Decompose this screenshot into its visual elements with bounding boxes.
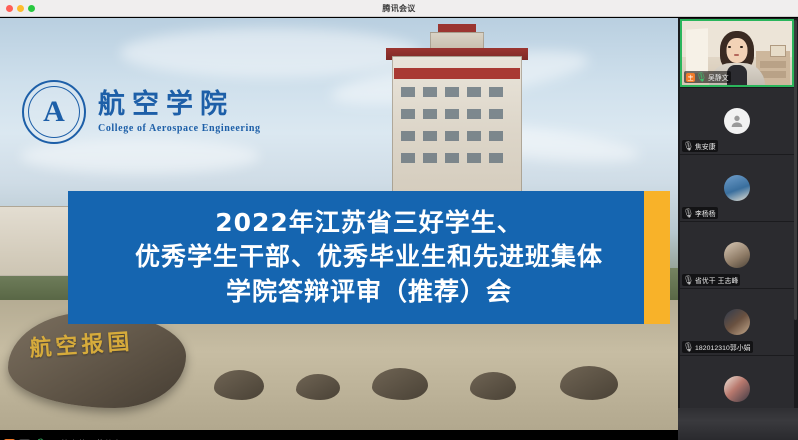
microphone-off-icon: 🎙	[684, 343, 693, 352]
zoom-window-button[interactable]	[28, 5, 35, 12]
screen-share-status-bar: 主 ▣ 🎙 吴静文的屏幕共享	[0, 430, 678, 440]
participant-tile-2[interactable]: 🎙 李杨杨	[680, 155, 794, 221]
decorative-rock	[296, 374, 340, 400]
participant-tile-4[interactable]: 🎙 182012310郭小娟	[680, 289, 794, 355]
decorative-rock	[470, 372, 516, 400]
slide-title-text: 2022年江苏省三好学生、 优秀学生干部、优秀毕业生和先进班集体 学院答辩评审（…	[81, 206, 657, 310]
presentation-slide: 航空报国 A 航空学院 College of Aerospace Enginee…	[0, 18, 678, 430]
microphone-on-icon: 🎙	[697, 73, 706, 82]
building-red-band	[394, 68, 520, 79]
microphone-off-icon: 🎙	[684, 142, 693, 151]
participant-label-3: 🎙 省优干 王志峰	[682, 274, 740, 286]
decorative-rock	[214, 370, 264, 400]
window-title: 腾讯会议	[0, 3, 798, 14]
microphone-off-icon: 🎙	[684, 209, 693, 218]
decorative-rock	[560, 366, 618, 400]
participant-label-2: 🎙 李杨杨	[682, 207, 718, 219]
participant-tile-1[interactable]: 🎙 焦安康	[680, 88, 794, 154]
tencent-meeting-window: 腾讯会议	[0, 0, 798, 440]
participant-tile-0[interactable]: 主 🎙 吴静文	[680, 19, 794, 87]
shared-screen-stage[interactable]: 航空报国 A 航空学院 College of Aerospace Enginee…	[0, 18, 678, 440]
traffic-light-group	[6, 5, 35, 12]
emblem-letter: A	[24, 82, 84, 142]
participant-tile-3[interactable]: 🎙 省优干 王志峰	[680, 222, 794, 288]
participant-avatar-photo	[724, 376, 750, 402]
minimize-window-button[interactable]	[17, 5, 24, 12]
participant-name-2: 李杨杨	[695, 208, 716, 218]
participant-name-1: 焦安康	[695, 141, 716, 151]
participant-label-1: 🎙 焦安康	[682, 140, 718, 152]
default-avatar-icon	[724, 108, 750, 134]
participant-avatar-photo	[724, 309, 750, 335]
slide-title-line-2: 优秀学生干部、优秀毕业生和先进班集体	[81, 240, 657, 275]
participant-avatar-photo	[724, 242, 750, 268]
slide-title-line-1: 2022年江苏省三好学生、	[81, 206, 657, 241]
cloud-decoration	[120, 28, 420, 78]
college-name-cn: 航空学院	[98, 90, 261, 120]
college-emblem-icon: A	[22, 80, 86, 144]
participant-rail-scrollbar[interactable]	[794, 20, 797, 320]
slide-title-banner: 2022年江苏省三好学生、 优秀学生干部、优秀毕业生和先进班集体 学院答辩评审（…	[68, 191, 670, 324]
decorative-rock	[372, 368, 428, 400]
participant-name-4: 182012310郭小娟	[695, 342, 751, 352]
participant-rail[interactable]: 主 🎙 吴静文 🎙 焦安康 🎙 李杨杨	[678, 18, 798, 440]
participant-avatar-photo	[724, 175, 750, 201]
microphone-off-icon: 🎙	[684, 276, 693, 285]
participant-name-3: 省优干 王志峰	[695, 275, 738, 285]
window-title-bar: 腾讯会议	[0, 0, 798, 17]
close-window-button[interactable]	[6, 5, 13, 12]
stone-calligraphy: 航空报国	[28, 321, 171, 383]
participant-label-0: 主 🎙 吴静文	[684, 71, 731, 83]
college-logo: A 航空学院 College of Aerospace Engineering	[22, 80, 261, 144]
participant-label-4: 🎙 182012310郭小娟	[682, 341, 753, 353]
college-name-en: College of Aerospace Engineering	[98, 123, 261, 134]
host-badge-icon: 主	[686, 73, 695, 82]
participant-name-0: 吴静文	[708, 72, 729, 82]
slide-title-line-3: 学院答辩评审（推荐）会	[81, 275, 657, 310]
rail-bottom-gradient	[678, 408, 798, 440]
